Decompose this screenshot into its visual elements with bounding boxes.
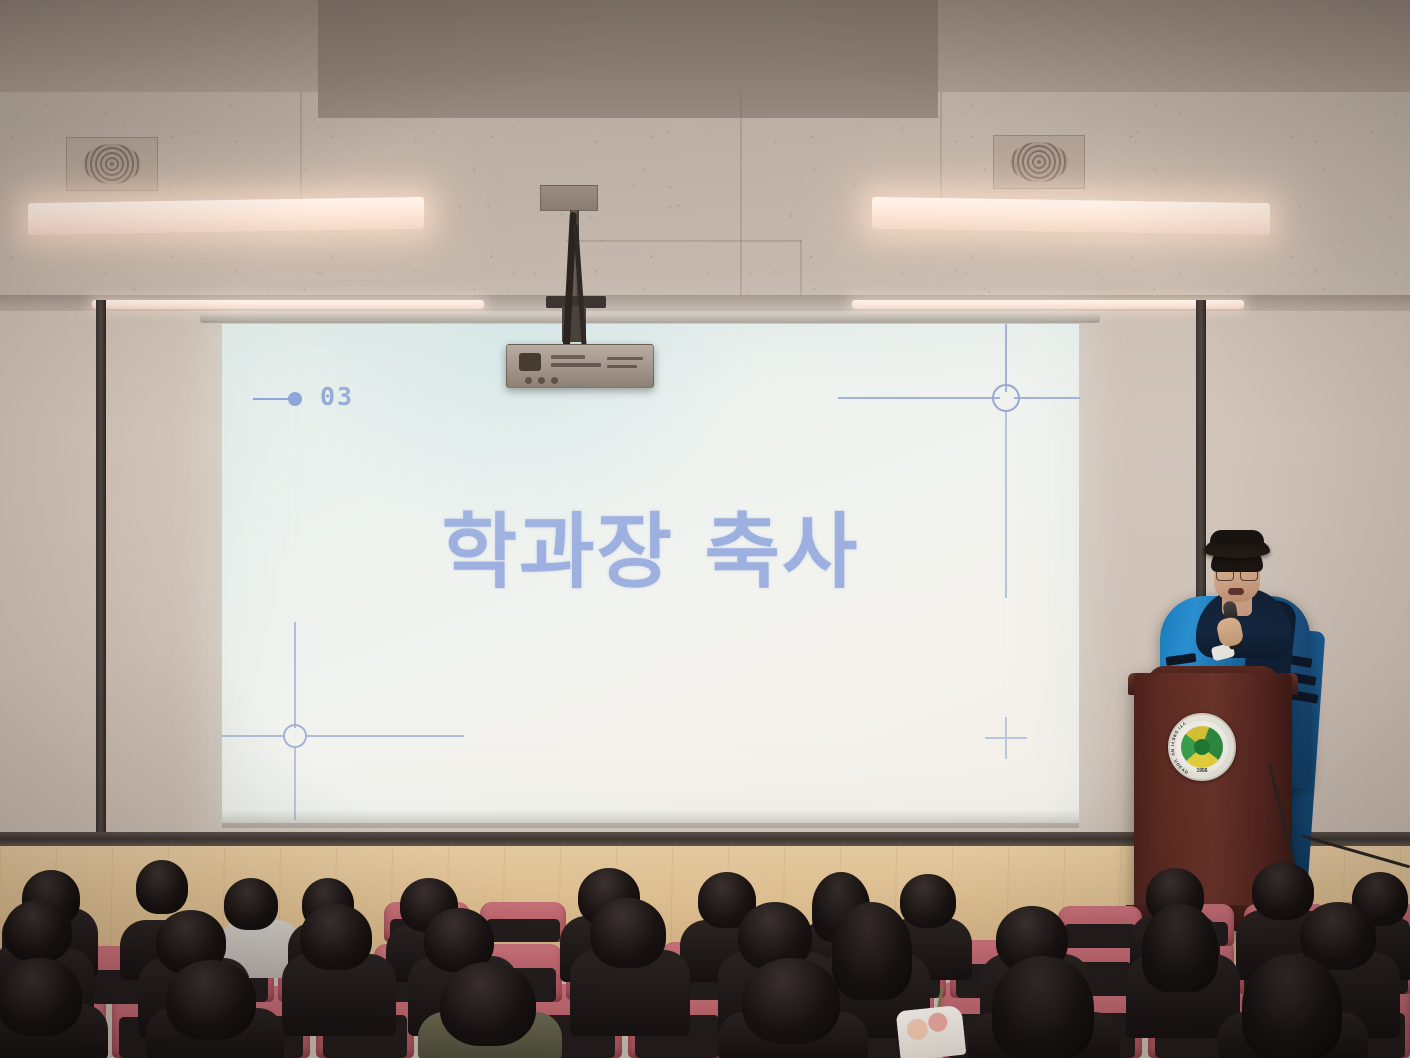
seal-ring-text: DAEGU UNIVERSITY <box>1170 715 1234 779</box>
audience-member-head <box>900 874 956 928</box>
crosshair-bl-hline-left <box>222 735 284 737</box>
ceiling-soffit-drop <box>318 0 938 118</box>
number-dot <box>288 392 302 406</box>
plus-mark-vline <box>1005 717 1007 759</box>
projector-lens-icon <box>519 353 541 371</box>
audience-member-head <box>742 958 840 1044</box>
doctoral-tam-crown <box>1210 530 1264 544</box>
slide-section-number: 03 <box>320 384 354 409</box>
crosshair-tr-hline-left <box>838 397 1000 399</box>
projector-vent <box>607 357 643 360</box>
audience-member-head <box>440 962 536 1046</box>
wall-strip-light-right <box>852 300 1244 309</box>
ceiling-projector <box>506 344 654 388</box>
ceiling-seam <box>940 92 942 212</box>
crosshair-top-right-icon <box>992 384 1020 412</box>
crosshair-bottom-left-icon <box>283 724 307 748</box>
audience-member-head <box>1252 862 1314 920</box>
ceiling-vent-icon <box>66 137 158 191</box>
crosshair-bl-vline-down <box>294 746 296 820</box>
fluorescent-light-left <box>28 197 424 235</box>
wall-strip-light-left <box>92 300 484 309</box>
audience-member-head <box>166 960 256 1040</box>
university-seal: 1956 DAEGU UNIVERSITY <box>1168 713 1236 781</box>
glasses-icon <box>1216 569 1258 579</box>
screen-bottom-shadow <box>222 810 1079 828</box>
audience-member-head <box>1142 904 1218 992</box>
audience-member-head <box>4 900 72 962</box>
slide-title: 학과장 축사 <box>222 512 1079 594</box>
audience-member-head <box>590 898 666 968</box>
bouquet <box>896 1005 967 1058</box>
ceiling-seam <box>800 240 802 300</box>
audience-member-head <box>1242 954 1342 1058</box>
audience-member-head <box>224 878 278 930</box>
audience-member-head <box>992 956 1094 1058</box>
projector-vent <box>551 363 601 367</box>
crosshair-bl-vline-up <box>294 622 296 728</box>
audience-member-head <box>0 958 82 1036</box>
projector-indicator <box>525 377 532 384</box>
projector-vent <box>607 365 637 368</box>
number-leader-line <box>253 398 293 400</box>
speaker-mouth <box>1228 588 1244 595</box>
ceiling-seam <box>740 92 742 300</box>
crosshair-bl-hline-right <box>306 735 464 737</box>
audience-member-head <box>832 902 912 1000</box>
ceiling-vent-icon <box>993 135 1085 189</box>
projector-vent <box>551 355 585 359</box>
fluorescent-light-right <box>872 197 1270 235</box>
auditorium-photo: 03 학과장 축사 <box>0 0 1410 1058</box>
ceiling-seam <box>300 92 302 212</box>
audience-member-head <box>136 860 188 914</box>
crosshair-tr-vline-up <box>1005 324 1007 392</box>
projector-indicator <box>538 377 545 384</box>
ceiling-seam <box>566 240 802 242</box>
audience <box>0 862 1410 1058</box>
projector-indicator <box>551 377 558 384</box>
screen-roller <box>200 314 1100 323</box>
wall-trim-left <box>96 300 106 840</box>
projection-screen: 03 학과장 축사 <box>222 324 1079 823</box>
audience-member-head <box>300 904 372 970</box>
crosshair-tr-hline-right <box>1014 397 1080 399</box>
projector-ceiling-plate <box>540 185 598 211</box>
